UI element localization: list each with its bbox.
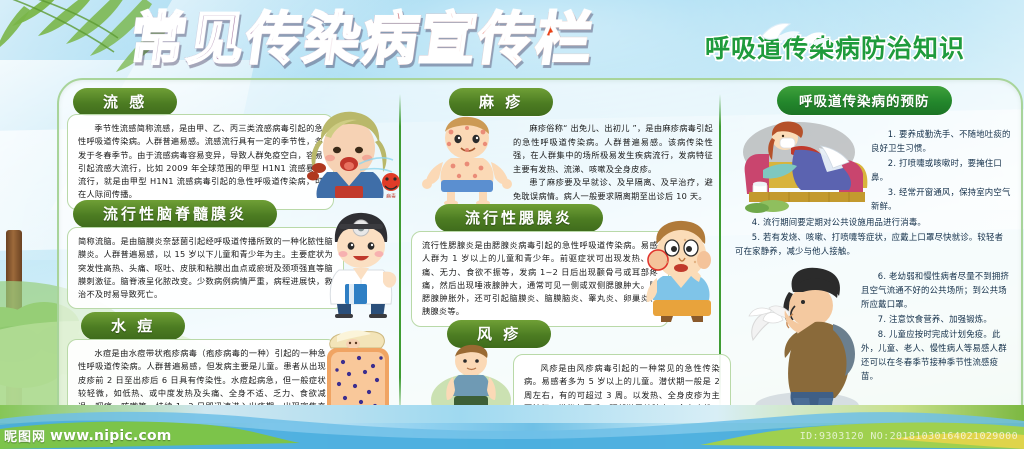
section-body-mumps: 流行性腮腺炎是由腮腺炎病毒引起的急性呼吸道传染病。易感人群为 1 岁以上的儿童和… xyxy=(422,239,658,319)
section-body-flu: 季节性流感简称流感，是由甲、乙、丙三类流感病毒引起的急性呼吸道传染病。人群普遍易… xyxy=(78,122,323,202)
illustration-coughing-girl: 病毒 xyxy=(297,106,403,198)
section-mumps: 流行性腮腺炎 xyxy=(435,204,603,232)
column-right: 呼吸道传染病的预防 xyxy=(721,80,1019,430)
prevention-item-5: 5. 若有发烧、咳嗽、打喷嚏等症状，应戴上口罩尽快就诊。较轻者可在家静养，减少与… xyxy=(735,231,1009,259)
dove-icon-small xyxy=(800,30,832,48)
illustration-doctor xyxy=(321,208,403,318)
section-meningitis: 流行性脑脊髓膜炎 xyxy=(73,200,277,228)
prevention-item-8: 8. 儿童应按时完成计划免疫。此外，儿童、老人、慢性病人等易感人群还可以在冬春季… xyxy=(861,328,1011,384)
prevention-item-7: 7. 注意饮食营养、加强锻炼。 xyxy=(861,313,1011,327)
section-title-meningitis: 流行性脑脊髓膜炎 xyxy=(73,200,277,228)
watermark: 昵图网 www.nipic.com xyxy=(4,426,172,445)
section-body-measles-2: 患了麻疹要及早就诊、及早隔离、及早治疗，避免耽误病情。病人一般要求隔离期至出诊后… xyxy=(513,176,713,203)
section-card-mumps: 流行性腮腺炎是由腮腺炎病毒引起的急性呼吸道传染病。易感人群为 1 岁以上的儿童和… xyxy=(411,231,669,327)
section-card-meningitis: 简称流脑。是由脑膜炎奈瑟菌引起经呼吸道传播所致的一种化脓性脑膜炎。人群普遍易感，… xyxy=(67,227,344,309)
section-title-mumps: 流行性腮腺炎 xyxy=(435,204,603,232)
section-measles: 麻 疹 xyxy=(449,88,553,116)
dove-icon xyxy=(758,20,804,46)
column-middle: 麻 疹 xyxy=(401,80,719,430)
watermark-url: www.nipic.com xyxy=(50,428,172,444)
section-title-measles: 麻 疹 xyxy=(449,88,553,116)
prevention-item-3: 3. 经常开窗通风，保持室内空气新鲜。 xyxy=(871,186,1011,214)
illustration-sneezing-man xyxy=(737,266,867,424)
prevention-list-mid: 4. 流行期间要定期对公共设施用品进行消毒。 5. 若有发烧、咳嗽、打喷嚏等症状… xyxy=(735,216,1009,260)
section-prevention: 呼吸道传染病的预防 xyxy=(777,86,952,115)
prevention-item-1: 1. 要养成勤洗手、不随地吐痰的良好卫生习惯。 xyxy=(871,128,1011,156)
prevention-item-2: 2. 打喷嚏或咳嗽时，要掩住口鼻。 xyxy=(871,157,1011,185)
page-title: 常见传染病宣传栏 xyxy=(126,12,598,68)
section-title-flu: 流 感 xyxy=(73,88,177,116)
watermark-cn: 昵图网 xyxy=(4,426,46,445)
section-title-prevention: 呼吸道传染病的预防 xyxy=(777,86,952,115)
section-chickenpox: 水 痘 xyxy=(81,312,185,340)
prevention-item-6: 6. 老幼弱和慢性病者尽量不到拥挤且空气流通不好的公共场所；到公共场所应戴口罩。 xyxy=(861,270,1011,312)
section-body-measles-1: 麻疹俗称“ 出免儿、出初儿 ”，是由麻疹病毒引起的急性呼吸道传染病。人群普遍易感… xyxy=(513,122,713,176)
section-card-flu: 季节性流感简称流感，是由甲、乙、丙三类流感病毒引起的急性呼吸道传染病。人群普遍易… xyxy=(67,114,334,210)
column-left: 流 感 季节性流感简称流感，是由甲、乙、丙三类流感病毒引起的急性呼吸道传染病。人… xyxy=(59,80,399,430)
poster-root: 常见传染病宣传栏 呼吸道传染病防治知识 流 感 季节性流感简称流感，是由甲、乙、… xyxy=(0,0,1024,449)
illustration-resting-woman xyxy=(739,118,875,214)
section-title-chickenpox: 水 痘 xyxy=(81,312,185,340)
footer-ground-strip: 昵图网 www.nipic.com ID:9303120 NO:20181030… xyxy=(0,423,1024,449)
content-board: 流 感 季节性流感简称流感，是由甲、乙、丙三类流感病毒引起的急性呼吸道传染病。人… xyxy=(57,78,1023,432)
prevention-list-top: 1. 要养成勤洗手、不随地吐痰的良好卫生习惯。 2. 打喷嚏或咳嗽时，要掩住口鼻… xyxy=(871,128,1011,215)
section-body-meningitis: 简称流脑。是由脑膜炎奈瑟菌引起经呼吸道传播所致的一种化脓性脑膜炎。人群普遍易感，… xyxy=(78,235,333,301)
image-id-tag: ID:9303120 NO:20181030164021029000 xyxy=(800,431,1018,442)
prevention-item-4: 4. 流行期间要定期对公共设施用品进行消毒。 xyxy=(735,216,1009,230)
svg-text:病毒: 病毒 xyxy=(386,193,396,198)
illustration-mumps-boy xyxy=(641,218,723,322)
section-card-measles: 麻疹俗称“ 出免儿、出初儿 ”，是由麻疹病毒引起的急性呼吸道传染病。人群普遍易感… xyxy=(513,122,713,204)
page-subtitle: 呼吸道传染病防治知识 xyxy=(705,36,965,61)
prevention-list-bottom: 6. 老幼弱和慢性病者尽量不到拥挤且空气流通不好的公共场所；到公共场所应戴口罩。… xyxy=(861,270,1011,385)
section-flu: 流 感 xyxy=(73,88,177,116)
poster-header: 常见传染病宣传栏 呼吸道传染病防治知识 xyxy=(0,0,1024,86)
illustration-measles-child xyxy=(421,114,513,206)
